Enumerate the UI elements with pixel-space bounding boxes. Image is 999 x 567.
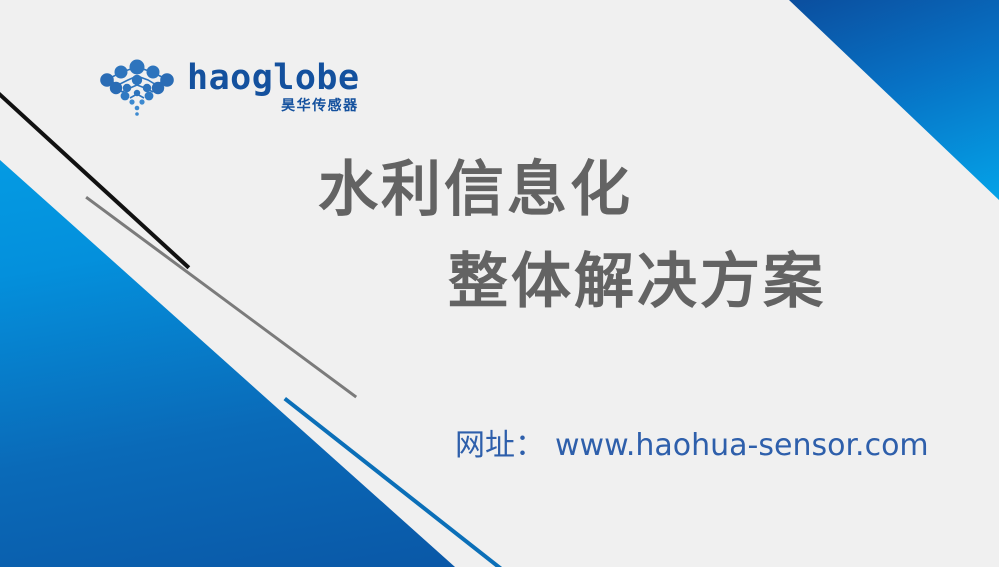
haoglobe-network-nodes-icon	[96, 58, 178, 116]
presentation-slide: haoglobe 昊华传感器 水利信息化 整体解决方案 网址： www.haoh…	[0, 0, 999, 567]
website-url[interactable]: www.haohua-sensor.com	[555, 428, 929, 463]
website-line: 网址： www.haohua-sensor.com	[455, 420, 929, 464]
slide-title-block: 水利信息化 整体解决方案	[0, 160, 999, 312]
slide-title-line-1: 水利信息化	[318, 160, 999, 220]
logo-text-group: haoglobe 昊华传感器	[187, 61, 360, 113]
company-logo: haoglobe 昊华传感器	[96, 58, 360, 116]
logo-wordmark: haoglobe	[187, 61, 360, 96]
website-label: 网址：	[455, 420, 545, 464]
logo-subtitle: 昊华传感器	[281, 99, 359, 113]
slide-title-line-2: 整体解决方案	[448, 252, 999, 312]
